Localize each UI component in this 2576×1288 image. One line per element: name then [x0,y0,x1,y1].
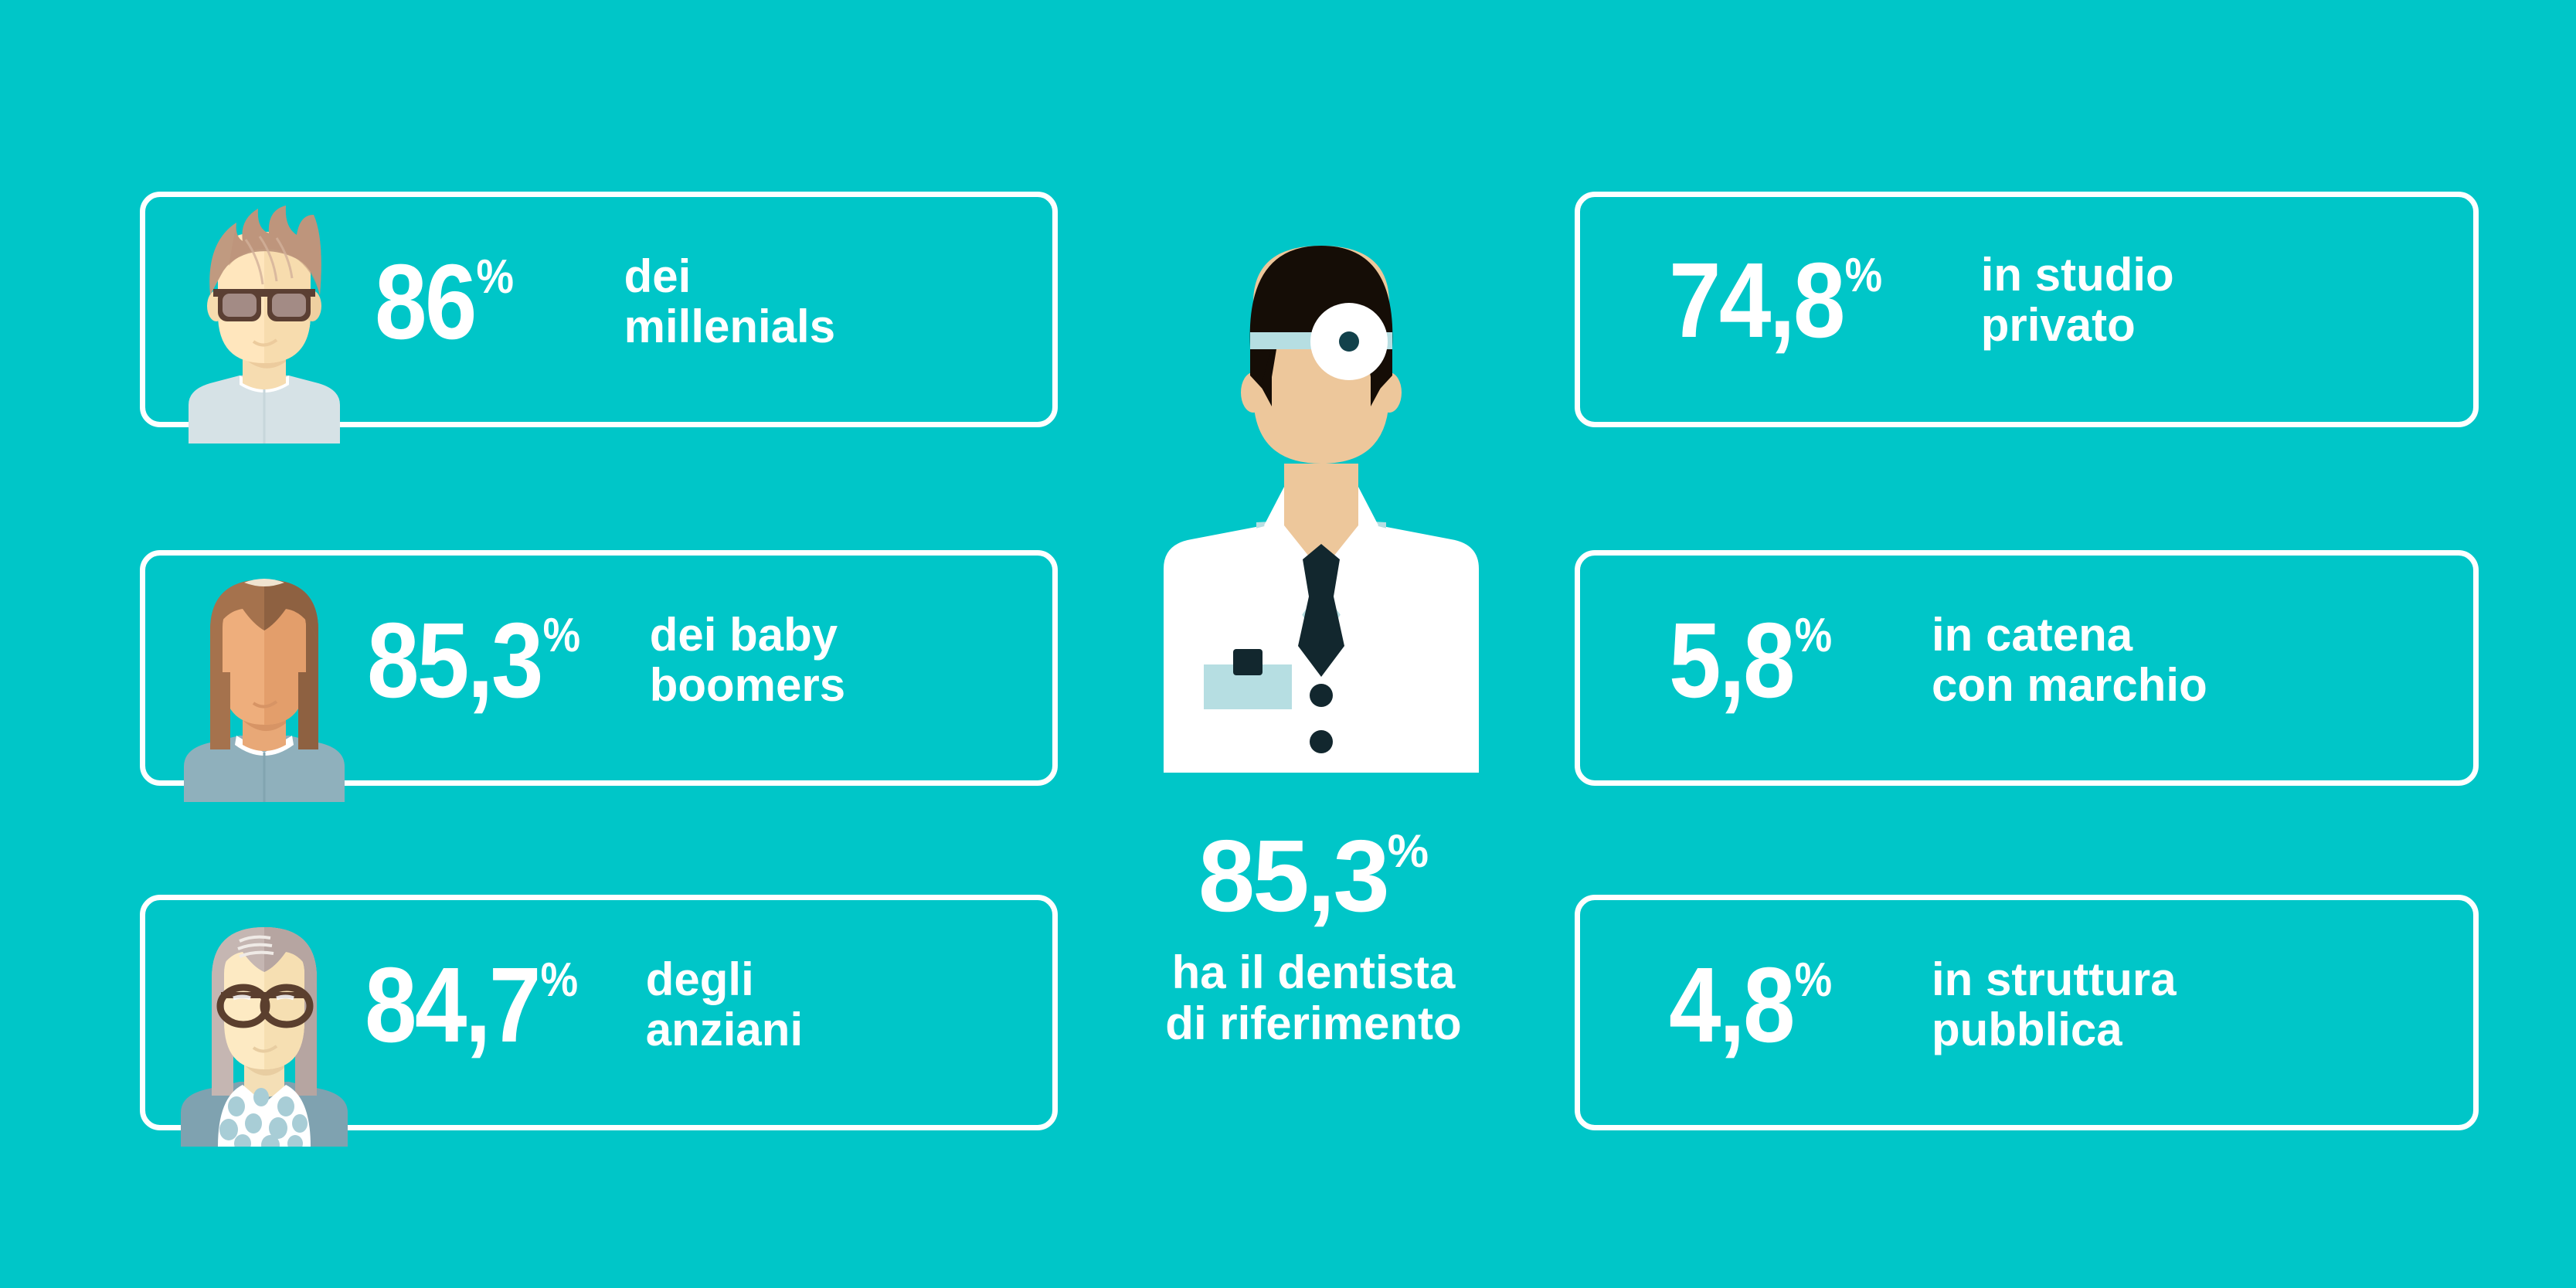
stat-catena-marchio: 5,8% in catena con marchio [1669,607,2207,714]
stat-label-struttura-pubblica: in struttura pubblica [1932,955,2177,1055]
percent-symbol: % [1388,828,1429,875]
percent-symbol: % [477,253,515,301]
young-man-avatar [162,198,366,443]
stat-value-catena-marchio: 5,8% [1669,607,1832,714]
percent-symbol: % [543,612,581,660]
stat-baby-boomers: 85,3% dei baby boomers [367,607,845,714]
infographic-canvas: 86% dei millenials 85,3% dei baby boomer… [0,0,2576,1288]
percent-symbol: % [541,957,579,1004]
elderly-woman-avatar [162,901,366,1147]
stat-studio-privato: 74,8% in studio privato [1669,247,2174,354]
stat-value-studio-privato: 74,8% [1669,247,1882,354]
stat-label-millennials: dei millenials [624,252,835,352]
adult-woman-avatar [162,556,366,802]
stat-struttura-pubblica: 4,8% in struttura pubblica [1669,952,2177,1059]
stat-value-baby-boomers: 85,3% [367,607,580,714]
percent-symbol: % [1795,612,1833,660]
dentist-illustration [1120,232,1522,773]
percent-symbol: % [1795,957,1833,1004]
stat-label-catena-marchio: in catena con marchio [1932,610,2207,711]
headline-stat: 85,3% ha il dentista di riferimento [1082,825,1545,1049]
stat-label-anziani: degli anziani [646,955,803,1055]
headline-value: 85,3% [1198,825,1429,927]
stat-value-millennials: 86% [375,249,514,355]
stat-value-anziani: 84,7% [365,952,578,1059]
stat-millennials: 86% dei millenials [375,249,835,355]
stat-label-baby-boomers: dei baby boomers [650,610,845,711]
headline-label: ha il dentista di riferimento [1082,947,1545,1049]
percent-symbol: % [1845,252,1883,300]
stat-label-studio-privato: in studio privato [1981,250,2174,351]
stat-value-struttura-pubblica: 4,8% [1669,952,1832,1059]
stat-anziani: 84,7% degli anziani [365,952,803,1059]
